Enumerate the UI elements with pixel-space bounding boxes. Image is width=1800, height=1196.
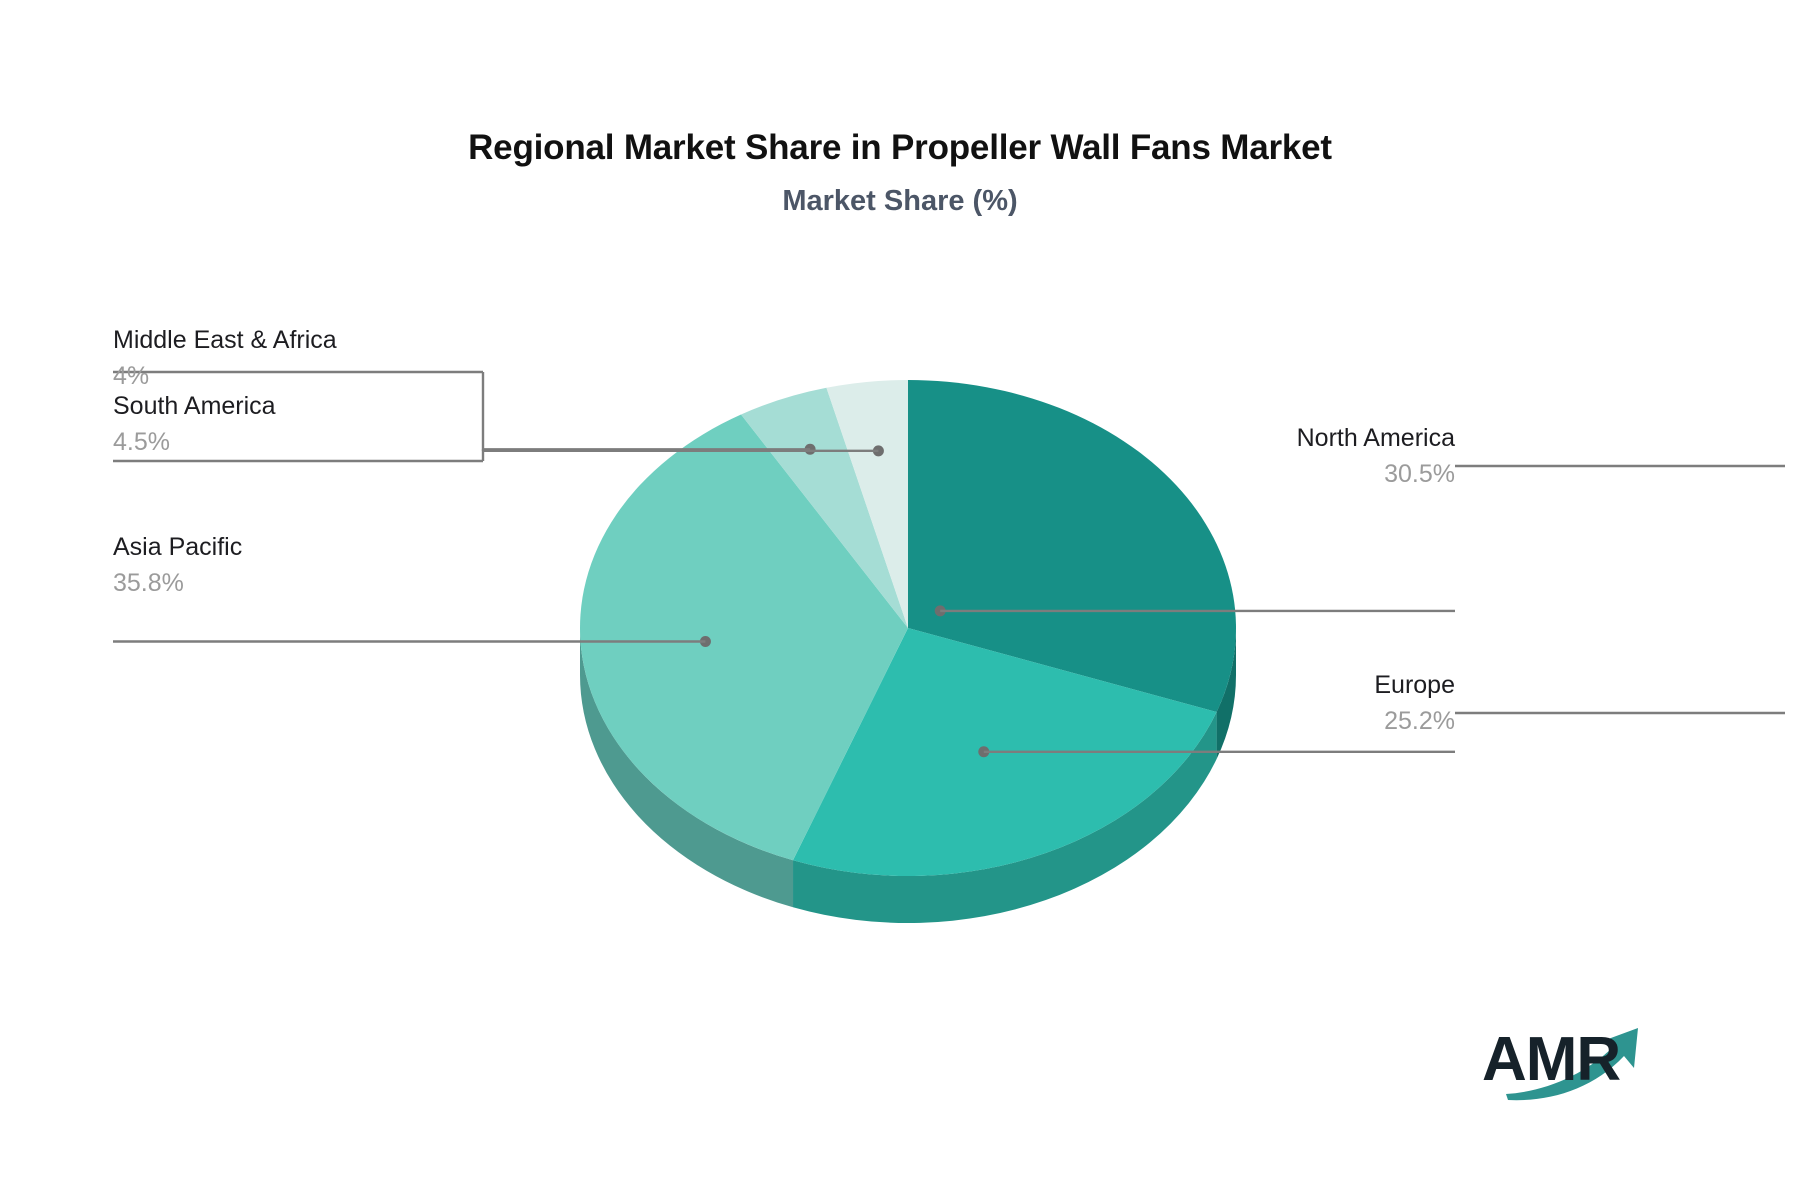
callout-label-asia-pacific: Asia Pacific — [113, 532, 242, 562]
callout-value-europe: 25.2% — [1374, 700, 1455, 736]
pie-chart-canvas — [0, 0, 1800, 1196]
callout-label-north-america: North America — [1297, 423, 1455, 453]
callout-label-middle-east-africa: Middle East & Africa — [113, 325, 337, 355]
pie-slices-group — [580, 380, 1236, 923]
callout-label-europe: Europe — [1374, 670, 1455, 700]
callout-europe[interactable]: Europe 25.2% — [1374, 670, 1455, 736]
callout-value-middle-east-africa: 4% — [113, 355, 337, 391]
callout-label-south-america: South America — [113, 391, 276, 421]
callout-value-asia-pacific: 35.8% — [113, 562, 242, 598]
callout-value-south-america: 4.5% — [113, 421, 276, 457]
chart-title: Regional Market Share in Propeller Wall … — [0, 128, 1800, 168]
callout-middle-east-africa[interactable]: Middle East & Africa 4% — [113, 325, 337, 391]
callout-value-north-america: 30.5% — [1297, 453, 1455, 489]
callout-asia-pacific[interactable]: Asia Pacific 35.8% — [113, 532, 242, 598]
amr-logo: AMR — [1482, 1018, 1662, 1104]
chart-subtitle: Market Share (%) — [0, 185, 1800, 218]
callout-south-america[interactable]: South America 4.5% — [113, 391, 276, 457]
amr-logo-text: AMR — [1482, 1024, 1620, 1095]
callout-north-america[interactable]: North America 30.5% — [1297, 423, 1455, 489]
